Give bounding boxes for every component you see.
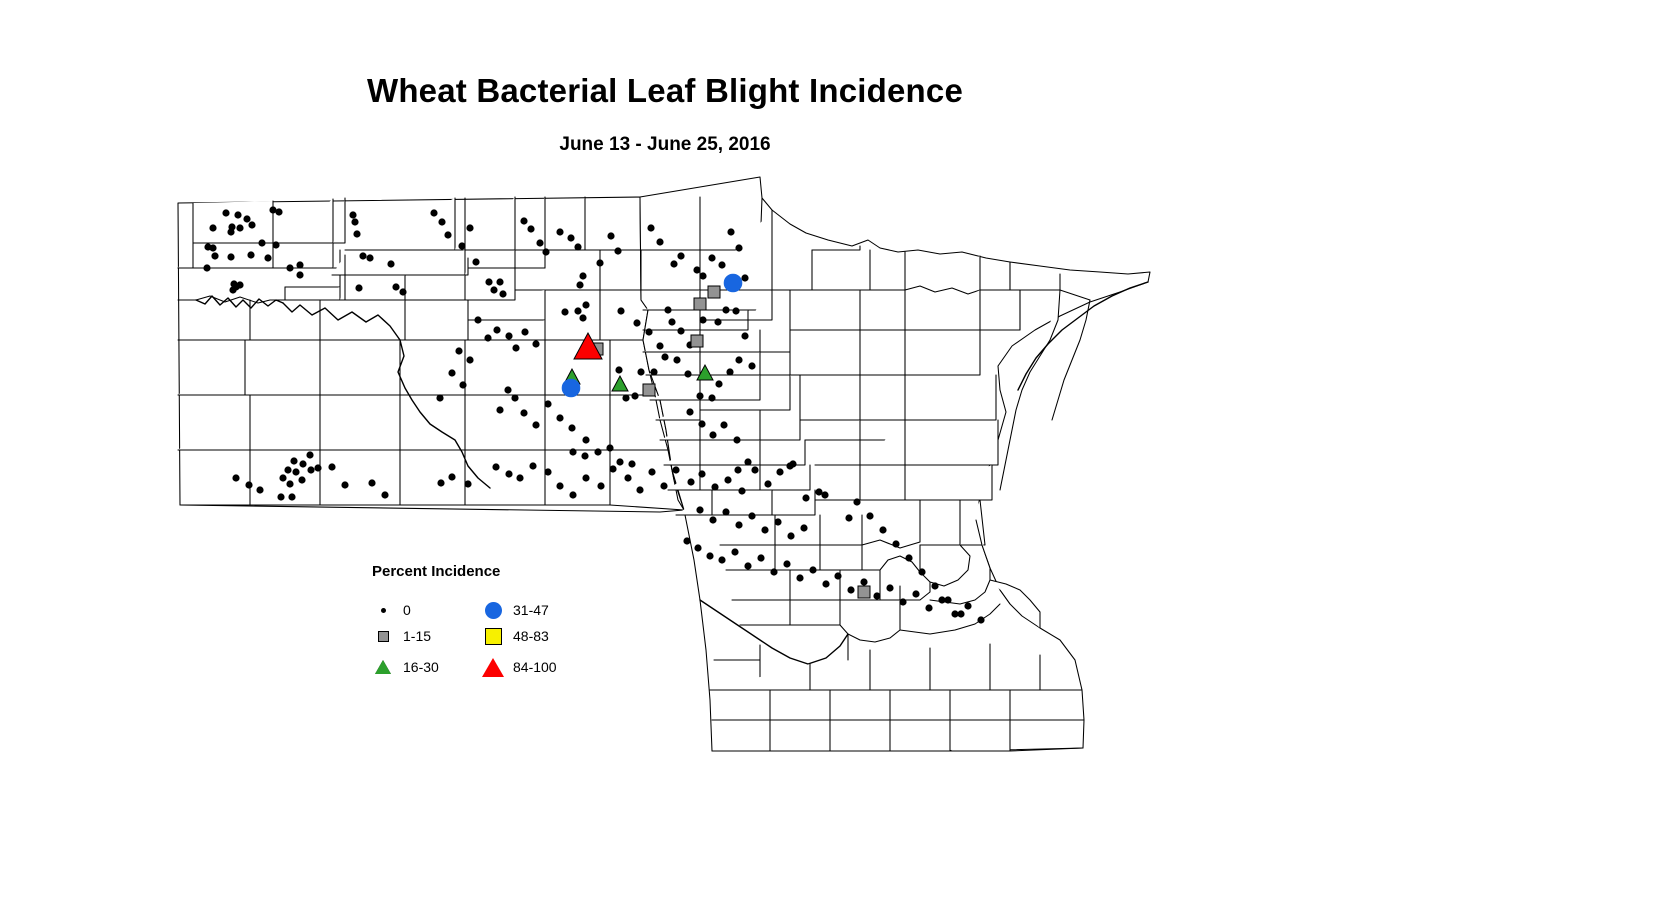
map-data-point xyxy=(459,381,466,388)
map-data-point xyxy=(298,476,305,483)
map-data-point xyxy=(466,224,473,231)
map-data-point xyxy=(664,306,671,313)
map-data-point xyxy=(648,468,655,475)
map-data-point xyxy=(444,231,451,238)
map-data-point xyxy=(516,474,523,481)
legend-item-16-30: 16-30 xyxy=(372,654,439,680)
map-data-point xyxy=(556,482,563,489)
map-data-point xyxy=(527,225,534,232)
map-data-point xyxy=(568,424,575,431)
map-data-point xyxy=(698,420,705,427)
map-data-point xyxy=(718,556,725,563)
map-data-point xyxy=(437,479,444,486)
map-data-point xyxy=(597,482,604,489)
map-data-point xyxy=(661,353,668,360)
map-data-point xyxy=(574,243,581,250)
map-data-point xyxy=(521,328,528,335)
map-data-point xyxy=(504,386,511,393)
map-data-point xyxy=(472,258,479,265)
map-data-point xyxy=(899,598,906,605)
blue-circle-icon xyxy=(482,599,504,621)
map-data-point xyxy=(720,421,727,428)
map-data-point xyxy=(711,483,718,490)
legend: Percent Incidence 0 1-15 16-30 31-47 48-… xyxy=(372,560,632,690)
map-data-point xyxy=(399,288,406,295)
map-data-point xyxy=(579,314,586,321)
map-data-point xyxy=(656,238,663,245)
map-data-point xyxy=(668,318,675,325)
legend-item-31-47: 31-47 xyxy=(482,597,549,623)
map-data-point xyxy=(677,252,684,259)
north-dakota-counties xyxy=(178,197,684,512)
map-data-point xyxy=(684,370,691,377)
map-data-point xyxy=(834,572,841,579)
map-data-point xyxy=(355,284,362,291)
map-data-point xyxy=(699,316,706,323)
map-data-point xyxy=(647,224,654,231)
map-data-point xyxy=(714,318,721,325)
map-data-point xyxy=(691,335,703,347)
map-data-point xyxy=(847,586,854,593)
map-data-point xyxy=(203,264,210,271)
map-data-point xyxy=(448,369,455,376)
map-data-point xyxy=(802,494,809,501)
map-data-point xyxy=(741,332,748,339)
map-data-point xyxy=(438,218,445,225)
map-data-point xyxy=(520,217,527,224)
map-data-point xyxy=(567,234,574,241)
map-data-point xyxy=(596,259,603,266)
map-data-point xyxy=(698,470,705,477)
map-data-point xyxy=(637,368,644,375)
legend-item-0: 0 xyxy=(372,597,411,623)
map-data-point xyxy=(821,491,828,498)
map-data-point xyxy=(696,392,703,399)
map-data-point xyxy=(670,260,677,267)
map-data-point xyxy=(353,230,360,237)
map-data-point xyxy=(800,524,807,531)
map-data-point xyxy=(622,394,629,401)
map-data-point xyxy=(455,347,462,354)
map-data-point xyxy=(496,278,503,285)
legend-label-0: 0 xyxy=(403,602,411,618)
map-data-point xyxy=(351,218,358,225)
map-data-point xyxy=(236,281,243,288)
map-data-point xyxy=(886,584,893,591)
map-data-point xyxy=(532,340,539,347)
map-data-point xyxy=(258,239,265,246)
map-data-point xyxy=(845,514,852,521)
map-data-point xyxy=(556,228,563,235)
map-data-point xyxy=(544,400,551,407)
map-data-point xyxy=(761,526,768,533)
map-data-point xyxy=(722,508,729,515)
map-data-point xyxy=(677,327,684,334)
map-data-point xyxy=(770,568,777,575)
map-data-point xyxy=(484,334,491,341)
map-data-point xyxy=(511,394,518,401)
map-data-point xyxy=(787,532,794,539)
map-data-point xyxy=(672,466,679,473)
map-data-point xyxy=(643,384,655,396)
map-data-point xyxy=(733,436,740,443)
map-data-point xyxy=(744,458,751,465)
map-data-point xyxy=(581,452,588,459)
map-data-point xyxy=(466,356,473,363)
legend-item-1-15: 1-15 xyxy=(372,623,431,649)
map-data-point xyxy=(341,481,348,488)
map-data-point xyxy=(748,362,755,369)
map-data-point xyxy=(853,498,860,505)
map-data-point xyxy=(496,406,503,413)
map-data-point xyxy=(724,476,731,483)
map-data-point xyxy=(286,480,293,487)
map-data-point xyxy=(617,307,624,314)
map-data-point xyxy=(726,368,733,375)
map-data-point xyxy=(505,332,512,339)
map-data-point xyxy=(656,342,663,349)
yellow-square-icon xyxy=(482,625,504,647)
map-data-point xyxy=(614,247,621,254)
map-data-point xyxy=(306,451,313,458)
map-data-point xyxy=(683,537,690,544)
map-data-point xyxy=(631,392,638,399)
map-data-point xyxy=(569,448,576,455)
map-data-point xyxy=(757,554,764,561)
map-data-point xyxy=(299,460,306,467)
map-data-point xyxy=(686,408,693,415)
map-data-point xyxy=(606,444,613,451)
map-data-point xyxy=(786,462,793,469)
map-data-point xyxy=(582,474,589,481)
legend-item-84-100: 84-100 xyxy=(482,654,557,680)
legend-label-16-30: 16-30 xyxy=(403,659,439,675)
map-data-point xyxy=(957,610,964,617)
map-data-point xyxy=(735,244,742,251)
map-data-point xyxy=(809,566,816,573)
map-data-point xyxy=(448,473,455,480)
map-data-point xyxy=(272,241,279,248)
map-data-point xyxy=(314,464,321,471)
map-data-point xyxy=(264,254,271,261)
map-data-point xyxy=(582,436,589,443)
map-data-point xyxy=(636,486,643,493)
map-data-point xyxy=(211,252,218,259)
map-data-point xyxy=(328,463,335,470)
map-data-point xyxy=(624,474,631,481)
map-data-point xyxy=(645,328,652,335)
map-data-point xyxy=(234,211,241,218)
map-data-point xyxy=(582,301,589,308)
map-data-point xyxy=(292,468,299,475)
map-data-point xyxy=(918,568,925,575)
map-data-point xyxy=(879,526,886,533)
map-data-point xyxy=(227,253,234,260)
map-data-point xyxy=(381,491,388,498)
map-data-point xyxy=(822,580,829,587)
map-data-point xyxy=(209,224,216,231)
map-data-point xyxy=(492,463,499,470)
map-data-point xyxy=(232,474,239,481)
legend-label-31-47: 31-47 xyxy=(513,602,549,618)
map-data-point xyxy=(436,394,443,401)
map-data-point xyxy=(650,368,657,375)
map-data-point xyxy=(485,278,492,285)
map-data-point xyxy=(544,468,551,475)
map-data-point xyxy=(708,394,715,401)
map-data-point xyxy=(860,578,867,585)
map-data-point xyxy=(748,512,755,519)
map-data-point xyxy=(718,261,725,268)
map-data-point xyxy=(616,458,623,465)
map-data-point xyxy=(735,356,742,363)
map-data-point xyxy=(430,209,437,216)
map-data-point xyxy=(964,602,971,609)
gray-square-icon xyxy=(372,625,394,647)
map-data-point xyxy=(751,466,758,473)
page-title: Wheat Bacterial Leaf Blight Incidence xyxy=(0,72,1330,110)
map-data-point xyxy=(741,274,748,281)
map-data-point xyxy=(286,264,293,271)
map-data-point xyxy=(731,548,738,555)
map-data-point xyxy=(532,421,539,428)
legend-item-48-83: 48-83 xyxy=(482,623,549,649)
map-data-point xyxy=(783,560,790,567)
legend-label-1-15: 1-15 xyxy=(403,628,431,644)
map-data-point xyxy=(574,307,581,314)
map-data-point xyxy=(727,228,734,235)
map-data-point xyxy=(715,380,722,387)
map-data-point xyxy=(359,252,366,259)
map-data-point xyxy=(227,228,234,235)
map-data-point xyxy=(366,254,373,261)
map-data-point xyxy=(925,604,932,611)
map-data-point xyxy=(275,208,282,215)
map-data-point xyxy=(796,574,803,581)
map-data-point xyxy=(505,470,512,477)
map-data-point xyxy=(245,481,252,488)
dot-icon xyxy=(372,599,394,621)
map-data-point xyxy=(722,306,729,313)
map-data-point xyxy=(490,286,497,293)
map-data-point xyxy=(673,356,680,363)
map-data-point xyxy=(247,251,254,258)
map-data-point xyxy=(222,209,229,216)
map-data-point xyxy=(512,344,519,351)
map-data-point xyxy=(243,215,250,222)
map-data-point xyxy=(229,286,236,293)
map-data-point xyxy=(561,308,568,315)
map-data-point xyxy=(296,261,303,268)
map-data-point xyxy=(735,521,742,528)
map-data-point xyxy=(687,478,694,485)
map-data-point xyxy=(776,468,783,475)
map-data-point xyxy=(290,457,297,464)
map-data-point xyxy=(696,506,703,513)
map-data-point xyxy=(296,271,303,278)
minnesota-counties xyxy=(640,177,1150,751)
map-data-point xyxy=(744,562,751,569)
map-data-point xyxy=(576,281,583,288)
map-data-point xyxy=(288,493,295,500)
map-data-point xyxy=(277,493,284,500)
map-data-point xyxy=(392,283,399,290)
legend-title: Percent Incidence xyxy=(372,563,500,580)
map-data-point xyxy=(556,414,563,421)
map-data-point xyxy=(349,211,356,218)
page-subtitle: June 13 - June 25, 2016 xyxy=(0,134,1330,156)
map-data-point xyxy=(307,466,314,473)
map-data-point xyxy=(529,462,536,469)
map-data-point xyxy=(248,221,255,228)
green-triangle-icon xyxy=(372,656,394,678)
map-data-point xyxy=(499,290,506,297)
map-data-point xyxy=(708,286,720,298)
map-data-point xyxy=(774,518,781,525)
map-data-point xyxy=(236,224,243,231)
map-data-point xyxy=(866,512,873,519)
map-data-point xyxy=(944,596,951,603)
map-data-point xyxy=(709,431,716,438)
map-data-point xyxy=(873,592,880,599)
map-data-point xyxy=(256,486,263,493)
map-data-point xyxy=(594,448,601,455)
map-data-point xyxy=(693,266,700,273)
map-data-point xyxy=(628,460,635,467)
map-data-point xyxy=(579,272,586,279)
map-data-point xyxy=(458,242,465,249)
map-data-point xyxy=(569,491,576,498)
map-data-point xyxy=(633,319,640,326)
map-data-point xyxy=(387,260,394,267)
map-data-point xyxy=(474,316,481,323)
map-data-point xyxy=(709,516,716,523)
map-data-point xyxy=(732,307,739,314)
map-data-point xyxy=(699,272,706,279)
map-data-point xyxy=(284,466,291,473)
map-data-point xyxy=(615,366,622,373)
red-triangle-icon xyxy=(482,656,504,678)
map-data-point xyxy=(279,474,286,481)
map-data-point xyxy=(764,480,771,487)
map-data-point xyxy=(542,248,549,255)
map-data-point xyxy=(905,554,912,561)
map-data-point xyxy=(858,586,870,598)
map-data-point xyxy=(493,326,500,333)
map-data-point xyxy=(977,616,984,623)
map-data-point xyxy=(892,540,899,547)
map-data-point xyxy=(694,298,706,310)
legend-label-84-100: 84-100 xyxy=(513,659,557,675)
map-data-point xyxy=(912,590,919,597)
map-data-point xyxy=(724,274,742,292)
legend-label-48-83: 48-83 xyxy=(513,628,549,644)
map-data-point xyxy=(520,409,527,416)
map-data-point xyxy=(931,582,938,589)
map-data-point xyxy=(734,466,741,473)
map-data-point xyxy=(607,232,614,239)
map-data-point xyxy=(708,254,715,261)
map-data-point xyxy=(609,465,616,472)
map-data-point xyxy=(660,482,667,489)
map-data-point xyxy=(706,552,713,559)
map-data-point xyxy=(536,239,543,246)
map-data-point xyxy=(738,487,745,494)
map-data-point xyxy=(368,479,375,486)
map-data-point xyxy=(209,244,216,251)
map-data-point xyxy=(562,379,580,397)
map-data-point xyxy=(464,480,471,487)
map-data-point xyxy=(694,544,701,551)
